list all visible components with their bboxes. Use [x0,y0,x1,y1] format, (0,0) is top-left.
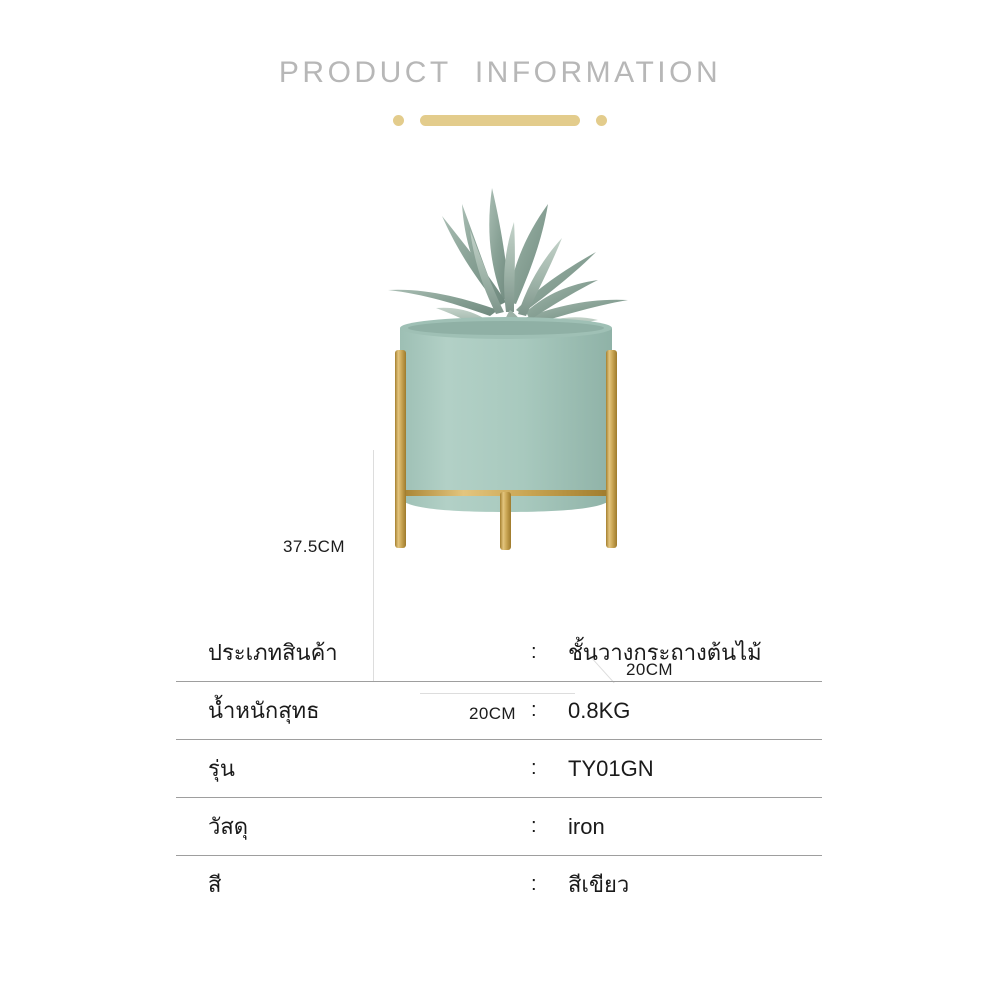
spec-value: TY01GN [568,756,654,782]
spec-value: iron [568,814,605,840]
spec-label: สี [208,867,221,902]
title-divider [0,112,1000,128]
spec-label: วัสดุ [208,809,248,844]
spec-colon: : [531,641,537,664]
planter-pot [400,317,612,512]
spec-value: 0.8KG [568,698,630,724]
divider-dot-left [393,115,404,126]
spec-colon: : [531,757,537,780]
product-figure: 37.5CM 20CM 20CM [0,150,1000,590]
page-title: PRODUCT INFORMATION [0,56,1000,90]
spec-label: รุ่น [208,751,235,786]
spec-value: ชั้นวางกระถางต้นไม้ [568,635,762,670]
table-row: วัสดุ : iron [176,798,822,856]
table-row: ประเภทสินค้า : ชั้นวางกระถางต้นไม้ [176,624,822,682]
spec-colon: : [531,699,537,722]
plant-pot-stand-image [340,160,670,550]
table-row: น้ำหนักสุทธ : 0.8KG [176,682,822,740]
spec-table: ประเภทสินค้า : ชั้นวางกระถางต้นไม้ น้ำหน… [176,624,822,913]
divider-dot-right [596,115,607,126]
spec-colon: : [531,815,537,838]
spec-colon: : [531,873,537,896]
spec-label: น้ำหนักสุทธ [208,693,320,728]
spec-value: สีเขียว [568,867,629,902]
divider-bar [420,115,580,126]
table-row: สี : สีเขียว [176,856,822,913]
header: PRODUCT INFORMATION [0,0,1000,150]
spec-label: ประเภทสินค้า [208,635,338,670]
table-row: รุ่น : TY01GN [176,740,822,798]
height-dimension-label: 37.5CM [283,537,345,557]
